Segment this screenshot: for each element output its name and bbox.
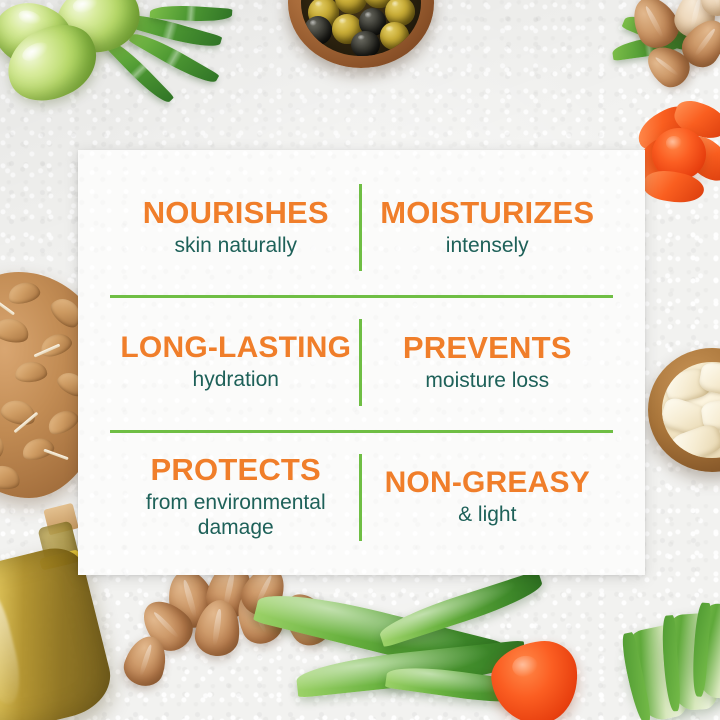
wheat-grain (0, 349, 2, 389)
benefit-title: MOISTURIZES (380, 197, 594, 229)
black-olive (304, 16, 333, 45)
bottle-highlight (0, 579, 28, 708)
green-olive (380, 22, 409, 50)
black-olive (351, 31, 380, 57)
wheat-grain (0, 425, 10, 463)
benefit-title: NON-GREASY (385, 467, 590, 498)
benefit-title: PROTECTS (151, 454, 321, 486)
benefit-row: PROTECTS from environmental damage NON-G… (110, 430, 613, 565)
benefit-cell-moisturizes: MOISTURIZES intensely (362, 160, 614, 295)
benefit-subtitle: intensely (446, 234, 529, 259)
olive-bowl-interior (301, 0, 421, 56)
benefit-cell-protects: PROTECTS from environmental damage (110, 430, 362, 565)
benefit-subtitle: hydration (193, 368, 279, 393)
wheat-grain (0, 396, 38, 427)
benefit-subtitle: & light (458, 503, 516, 528)
benefits-card: NOURISHES skin naturally MOISTURIZES int… (78, 150, 645, 575)
benefit-subtitle: from environmental damage (121, 491, 351, 541)
wheat-grain (44, 406, 82, 439)
benefit-row: NOURISHES skin naturally MOISTURIZES int… (110, 160, 613, 295)
wheat-grain (14, 361, 48, 385)
benefit-title: NOURISHES (143, 197, 329, 229)
wheat-grain (0, 464, 22, 491)
benefit-cell-prevents: PREVENTS moisture loss (362, 295, 614, 430)
benefit-cell-non-greasy: NON-GREASY & light (362, 430, 614, 565)
infographic-canvas: NOURISHES skin naturally MOISTURIZES int… (0, 0, 720, 720)
benefit-title: PREVENTS (403, 332, 572, 364)
wheat-grain (20, 435, 56, 463)
benefit-cell-long-lasting: LONG-LASTING hydration (110, 295, 362, 430)
wheat-grain (6, 280, 42, 307)
benefit-subtitle: skin naturally (174, 234, 297, 259)
benefit-row: LONG-LASTING hydration PREVENTS moisture… (110, 295, 613, 430)
shea-butter-bowl-interior (662, 362, 720, 459)
benefit-title: LONG-LASTING (120, 332, 351, 363)
wheat-grain (0, 316, 31, 345)
benefit-cell-nourishes: NOURISHES skin naturally (110, 160, 362, 295)
benefit-subtitle: moisture loss (425, 369, 549, 394)
